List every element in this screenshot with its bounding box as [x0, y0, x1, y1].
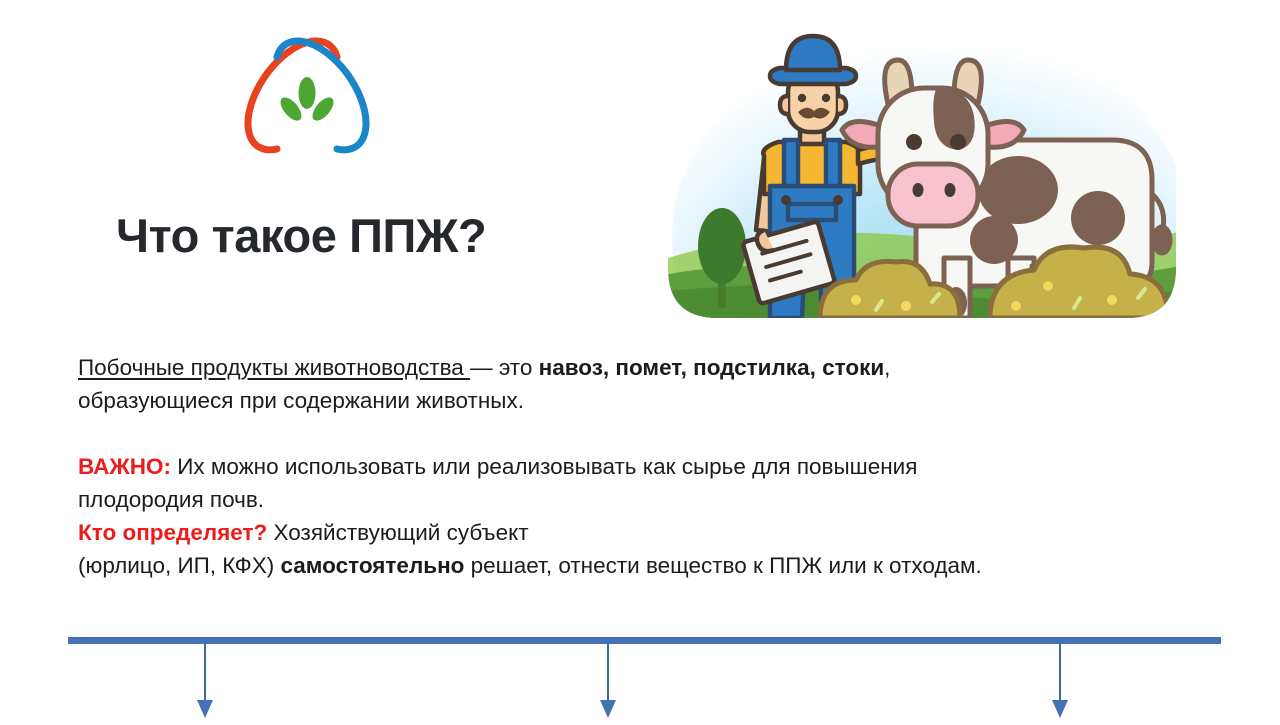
paragraph-definition: Побочные продукты животноводства — это н… — [78, 351, 1208, 417]
connector-bar — [68, 637, 1221, 644]
who-decides-line2-post: решает, отнести вещество к ППЖ или к отх… — [464, 553, 981, 578]
who-decides-line2-pre: (юрлицо, ИП, КФХ) — [78, 553, 281, 578]
farmer-eye-right — [822, 94, 830, 102]
paragraph-important: ВАЖНО: Их можно использовать или реализо… — [78, 450, 1208, 516]
connector-arrow-1 — [197, 642, 213, 718]
paragraph-who-decides: Кто определяет? Хозяйствующий субъект (ю… — [78, 516, 1208, 582]
definition-mid: — это — [470, 355, 539, 380]
who-decides-label: Кто определяет? — [78, 520, 267, 545]
cow-eye-right — [950, 134, 966, 150]
organization-logo — [233, 29, 381, 177]
who-decides-line1: Хозяйствующий субъект — [267, 520, 528, 545]
cow-spot — [1071, 191, 1125, 245]
cow-spot — [970, 216, 1018, 264]
definition-term: Побочные продукты животноводства — [78, 355, 470, 380]
important-line1: Их можно использовать или реализовывать … — [171, 454, 917, 479]
atom-leaf-logo-icon — [233, 29, 381, 177]
body-copy: Побочные продукты животноводства — это н… — [78, 351, 1208, 582]
page-title: Что такое ППЖ? — [116, 208, 486, 264]
connector-diagram — [0, 624, 1280, 720]
important-label: ВАЖНО: — [78, 454, 171, 479]
farmer-eye-left — [798, 94, 806, 102]
leaf-cluster-icon — [277, 77, 338, 124]
connector-arrow-2 — [600, 642, 616, 718]
farmer-with-cow-illustration — [660, 18, 1184, 322]
definition-list: навоз, помет, подстилка, стоки — [539, 355, 885, 380]
branch-connector — [0, 624, 1280, 720]
connector-arrow-3 — [1052, 642, 1068, 718]
cow-eye-left — [906, 134, 922, 150]
who-decides-emphasis: самостоятельно — [281, 553, 465, 578]
paragraph-gap — [78, 417, 1208, 450]
definition-comma: , — [884, 355, 890, 380]
farmer-cow-scene-icon — [660, 18, 1184, 322]
important-line2: плодородия почв. — [78, 487, 264, 512]
definition-line2: образующиеся при содержании животных. — [78, 388, 524, 413]
